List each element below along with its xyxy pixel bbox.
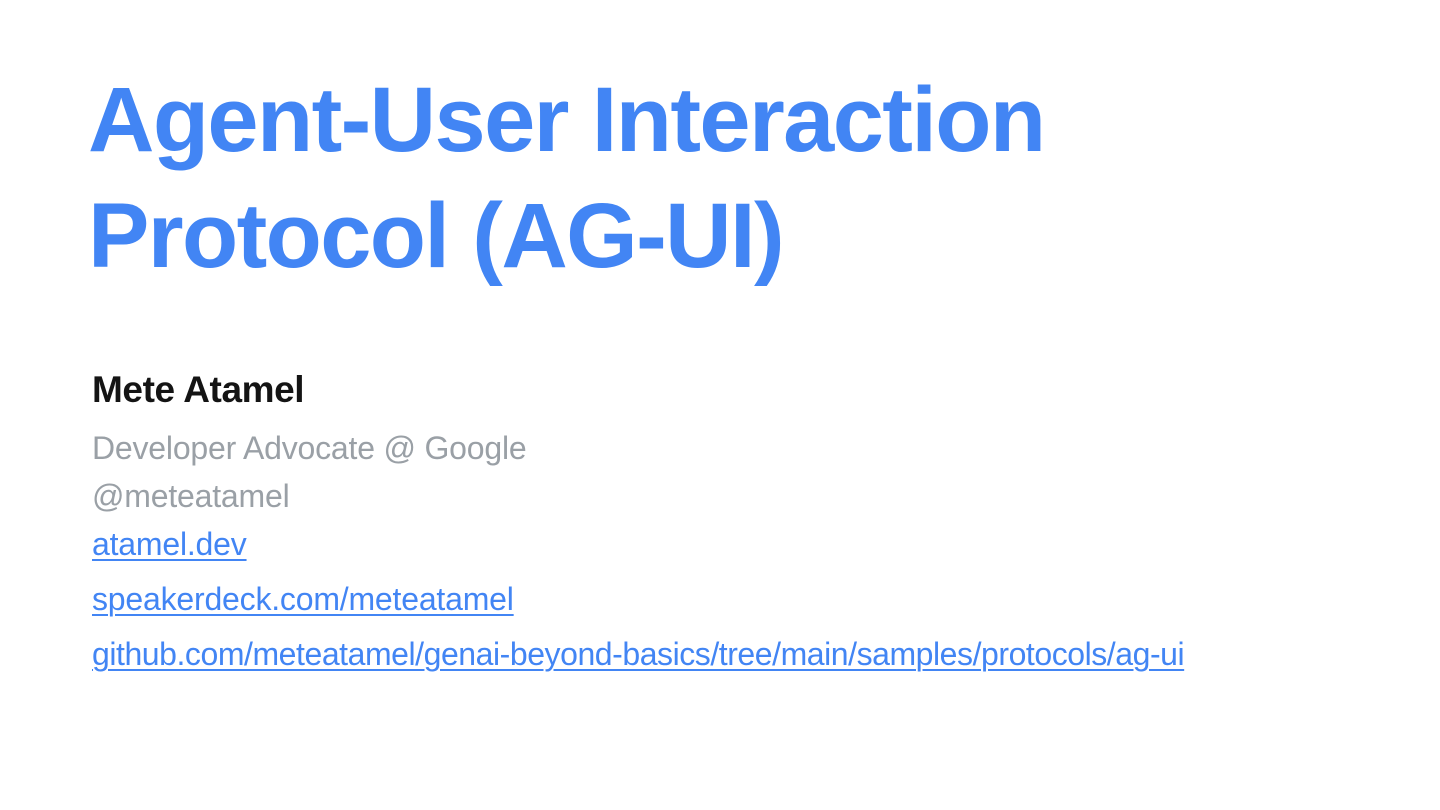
- link-github-repo[interactable]: github.com/meteatamel/genai-beyond-basic…: [92, 636, 1184, 672]
- presenter-name: Mete Atamel: [92, 368, 1412, 412]
- presenter-block: Mete Atamel Developer Advocate @ Google …: [92, 368, 1412, 685]
- link-speakerdeck[interactable]: speakerdeck.com/meteatamel: [92, 581, 514, 617]
- presenter-role: Developer Advocate @ Google: [92, 424, 1412, 472]
- list-item: github.com/meteatamel/genai-beyond-basic…: [92, 630, 1412, 685]
- presentation-slide: Agent-User Interaction Protocol (AG-UI) …: [0, 0, 1440, 810]
- page-title: Agent-User Interaction Protocol (AG-UI): [88, 62, 1268, 294]
- list-item: speakerdeck.com/meteatamel: [92, 575, 1412, 630]
- presenter-handle: @meteatamel: [92, 472, 1412, 520]
- title-block: Agent-User Interaction Protocol (AG-UI): [88, 62, 1268, 294]
- links-list: atamel.dev speakerdeck.com/meteatamel gi…: [92, 520, 1412, 685]
- link-atamel-dev[interactable]: atamel.dev: [92, 526, 247, 562]
- list-item: atamel.dev: [92, 520, 1412, 575]
